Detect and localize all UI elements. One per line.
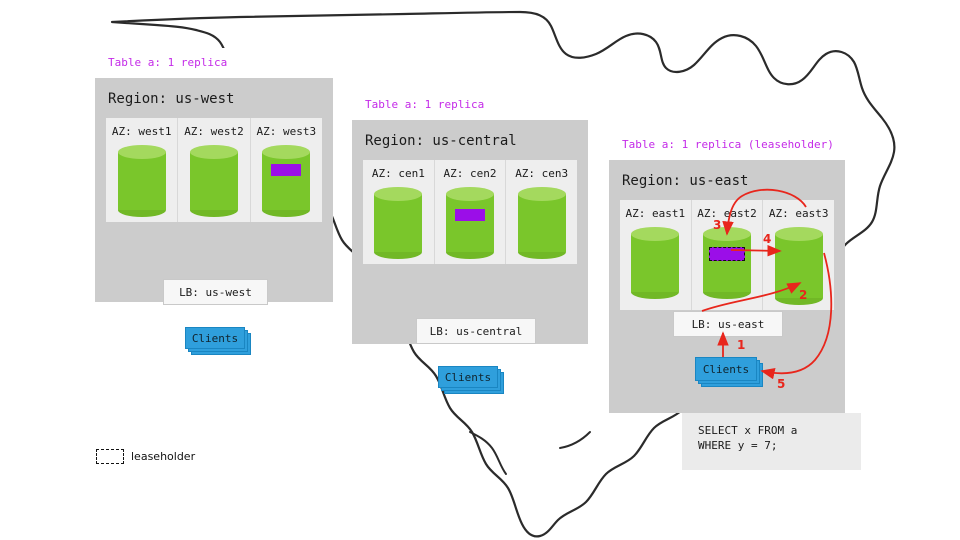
az-cell-west3[interactable]: AZ: west3 [251, 118, 322, 222]
sql-query-box: SELECT x FROM a WHERE y = 7; [682, 413, 861, 470]
panel-body-us-central: Region: us-central AZ: cen1 AZ: cen2 [352, 120, 588, 344]
az-row-us-central: AZ: cen1 AZ: cen2 [363, 160, 577, 264]
cylinder-east2[interactable] [703, 227, 751, 299]
cylinder-west2[interactable] [190, 145, 238, 212]
cylinder-body [190, 152, 238, 210]
cylinder-west3[interactable] [262, 145, 310, 212]
step-number-5: 5 [777, 377, 785, 391]
clients-label-us-central[interactable]: Clients [438, 366, 498, 388]
leaseholder-swatch-icon [96, 449, 124, 464]
lb-box-us-west[interactable]: LB: us-west [163, 279, 268, 305]
cylinder-body [118, 152, 166, 210]
cylinder-west1[interactable] [118, 145, 166, 212]
clients-label-us-east[interactable]: Clients [695, 357, 757, 381]
cylinder-body [374, 194, 422, 252]
lb-box-us-central[interactable]: LB: us-central [416, 318, 536, 344]
clients-us-west[interactable]: Clients [185, 327, 251, 355]
az-label-west1: AZ: west1 [112, 125, 172, 138]
step-number-3: 3 [713, 218, 721, 232]
cylinder-body [518, 194, 566, 252]
legend-label-leaseholder: leaseholder [131, 450, 195, 463]
az-cell-cen3[interactable]: AZ: cen3 [506, 160, 577, 264]
region-title-us-east: Region: us-east [609, 160, 845, 200]
region-panel-us-east[interactable]: Table a: 1 replica (leaseholder) Region:… [609, 130, 845, 413]
az-cell-cen2[interactable]: AZ: cen2 [435, 160, 507, 264]
cylinder-cen1[interactable] [374, 187, 422, 254]
cylinder-top [190, 145, 238, 159]
az-cell-west1[interactable]: AZ: west1 [106, 118, 178, 222]
az-label-cen2: AZ: cen2 [444, 167, 497, 180]
panel-header-us-central: Table a: 1 replica [352, 90, 588, 120]
az-label-east2: AZ: east2 [697, 207, 757, 220]
az-cell-east1[interactable]: AZ: east1 [620, 200, 692, 310]
az-label-east1: AZ: east1 [626, 207, 686, 220]
region-title-us-central: Region: us-central [352, 120, 588, 160]
region-panel-us-central[interactable]: Table a: 1 replica Region: us-central AZ… [352, 90, 588, 344]
region-panel-us-west[interactable]: Table a: 1 replica Region: us-west AZ: w… [95, 48, 333, 302]
az-label-cen1: AZ: cen1 [372, 167, 425, 180]
az-label-east3: AZ: east3 [769, 207, 829, 220]
clients-us-central[interactable]: Clients [438, 366, 504, 394]
florida-gulf-path [560, 432, 590, 448]
panel-body-us-west: Region: us-west AZ: west1 AZ: west2 [95, 78, 333, 302]
az-cell-west2[interactable]: AZ: west2 [178, 118, 250, 222]
cylinder-cen2[interactable] [446, 187, 494, 254]
step-number-1: 1 [737, 338, 745, 352]
lb-box-us-east[interactable]: LB: us-east [673, 311, 783, 337]
az-row-us-west: AZ: west1 AZ: west2 [106, 118, 322, 222]
az-label-west2: AZ: west2 [184, 125, 244, 138]
diagram-canvas: Table a: 1 replica Region: us-west AZ: w… [0, 0, 960, 540]
panel-header-us-west: Table a: 1 replica [95, 48, 333, 78]
az-label-cen3: AZ: cen3 [515, 167, 568, 180]
cylinder-top [118, 145, 166, 159]
clients-us-east[interactable]: Clients [695, 357, 765, 387]
cylinder-body [262, 152, 310, 210]
cylinder-top [703, 227, 751, 241]
region-title-us-west: Region: us-west [95, 78, 333, 118]
az-cell-east2[interactable]: AZ: east2 [692, 200, 764, 310]
az-label-west3: AZ: west3 [257, 125, 317, 138]
clients-label-us-west[interactable]: Clients [185, 327, 245, 349]
legend: leaseholder [96, 449, 195, 464]
cylinder-top [446, 187, 494, 201]
cylinder-body [631, 234, 679, 292]
panel-header-us-east: Table a: 1 replica (leaseholder) [609, 130, 845, 160]
step-number-4: 4 [763, 232, 771, 246]
cylinder-top [775, 227, 823, 241]
cylinder-cen3[interactable] [518, 187, 566, 254]
replica-chip-west3 [271, 164, 301, 176]
step-number-2: 2 [799, 288, 807, 302]
az-cell-cen1[interactable]: AZ: cen1 [363, 160, 435, 264]
cylinder-body [703, 234, 751, 292]
leaseholder-chip-east2 [709, 247, 745, 261]
cylinder-body [446, 194, 494, 252]
cylinder-top [518, 187, 566, 201]
replica-chip-cen2 [455, 209, 485, 221]
cylinder-east1[interactable] [631, 227, 679, 299]
